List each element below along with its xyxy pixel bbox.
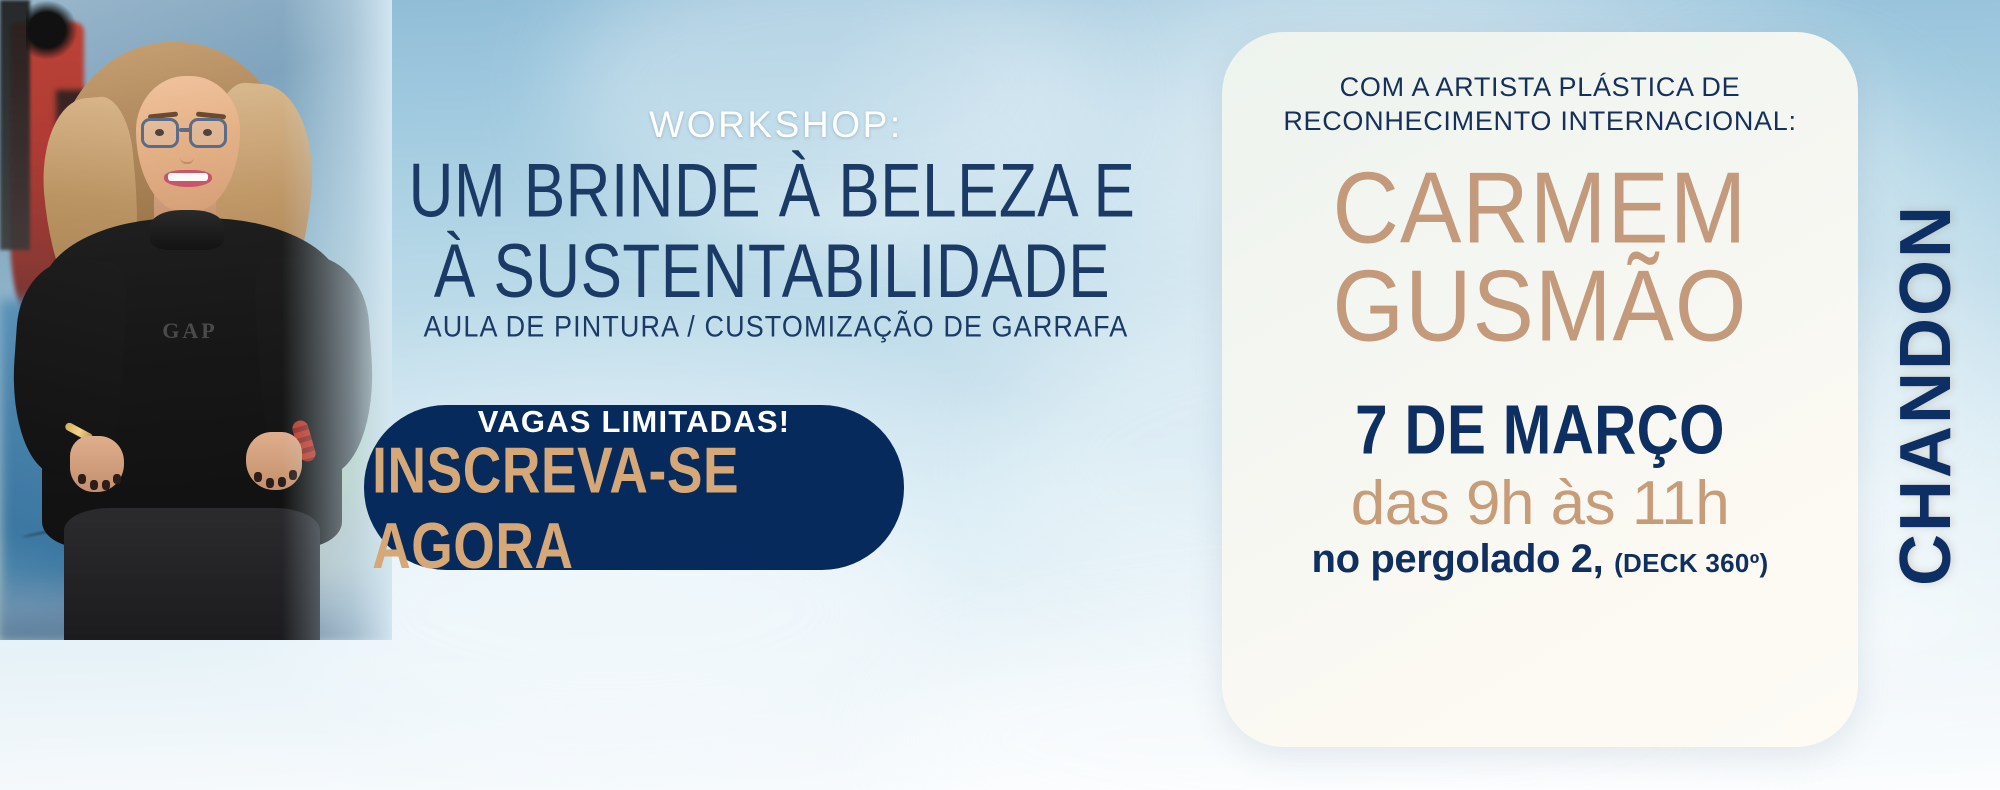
eyeglasses-left-lens xyxy=(141,118,179,148)
artist-last-name: GUSMÃO xyxy=(1248,258,1832,356)
fingernail xyxy=(102,480,110,490)
hand-right xyxy=(246,432,302,490)
fingernail xyxy=(113,474,121,484)
workshop-kicker: WORKSHOP: xyxy=(392,104,1160,146)
card-header-line-1: COM A ARTISTA PLÁSTICA DE xyxy=(1248,70,1832,104)
artist-first-name: CARMEM xyxy=(1248,160,1832,258)
event-location-main: no pergolado 2, xyxy=(1312,537,1604,581)
cta-signup-label: INSCREVA-SE AGORA xyxy=(372,432,896,583)
fingernail xyxy=(278,477,286,487)
left-text-column: WORKSHOP: UM BRINDE À BELEZA E À SUSTENT… xyxy=(392,0,1160,790)
event-date: 7 DE MARÇO xyxy=(1266,391,1815,471)
fingernail xyxy=(78,474,86,484)
card-header: COM A ARTISTA PLÁSTICA DE RECONHECIMENTO… xyxy=(1248,70,1832,138)
turtleneck-collar xyxy=(150,210,224,250)
artist-name: CARMEM GUSMÃO xyxy=(1248,160,1832,356)
card-header-line-2: RECONHECIMENTO INTERNACIONAL: xyxy=(1248,104,1832,138)
headline: UM BRINDE À BELEZA E À SUSTENTABILIDADE xyxy=(372,152,1172,314)
headline-line-1: UM BRINDE À BELEZA E xyxy=(372,152,1172,233)
woman-figure: GAP xyxy=(8,28,384,640)
event-location-detail: (DECK 360º) xyxy=(1614,548,1768,578)
fingernail xyxy=(254,472,262,482)
chandon-brand-wordmark: CHANDON xyxy=(1862,0,1990,790)
fingernail xyxy=(289,470,297,480)
dark-trousers xyxy=(64,508,320,640)
fingernail xyxy=(90,480,98,490)
workshop-subtitle: AULA DE PINTURA / CUSTOMIZAÇÃO DE GARRAF… xyxy=(392,310,1160,344)
artist-info-card: COM A ARTISTA PLÁSTICA DE RECONHECIMENTO… xyxy=(1222,32,1858,747)
nose xyxy=(180,146,194,164)
headline-line-2: À SUSTENTABILIDADE xyxy=(372,233,1172,314)
fingernail xyxy=(266,478,274,488)
shirt-logo-text: GAP xyxy=(150,318,230,344)
event-time: das 9h às 11h xyxy=(1248,468,1832,539)
artist-portrait-photo: GAP xyxy=(0,0,392,640)
event-location: no pergolado 2, (DECK 360º) xyxy=(1248,537,1832,582)
eyeglasses-bridge xyxy=(179,128,191,132)
eyeglasses-right-lens xyxy=(189,118,227,148)
mouth xyxy=(164,170,212,187)
signup-cta-button[interactable]: VAGAS LIMITADAS! INSCREVA-SE AGORA xyxy=(364,405,904,570)
teeth xyxy=(168,173,208,181)
chandon-brand-text: CHANDON xyxy=(1885,204,1967,586)
promo-banner: GAP WORKSHOP: UM BRINDE À BELEZA E À SUS… xyxy=(0,0,2000,790)
hand-left xyxy=(70,436,124,492)
